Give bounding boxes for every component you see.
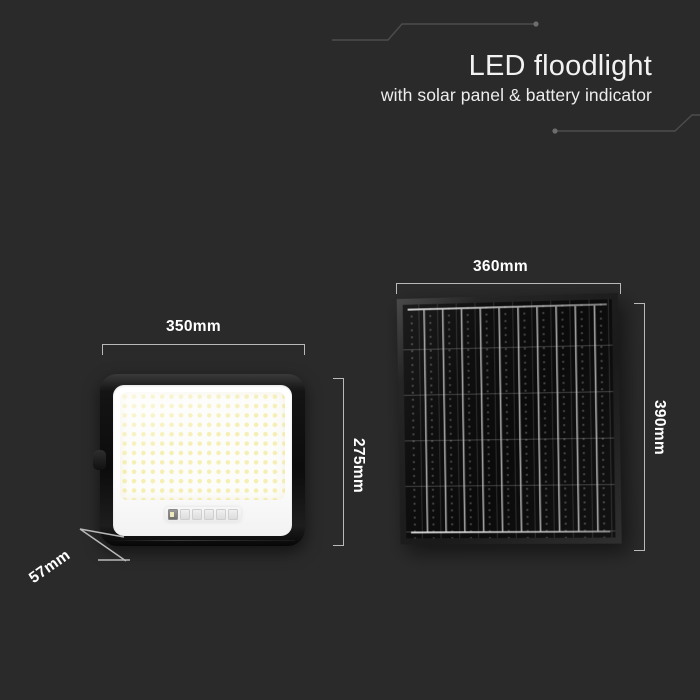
dimension-label-panel-height: 390mm	[650, 400, 668, 455]
floodlight-front-face	[113, 385, 292, 536]
battery-segment	[216, 509, 226, 520]
dimension-bracket-panel-height	[634, 303, 645, 551]
dimension-bracket-floodlight-height	[333, 378, 344, 546]
floodlight-mounting-knob	[93, 450, 106, 470]
solar-bottom-busbar	[411, 531, 610, 534]
dimension-bracket-floodlight-width	[102, 344, 305, 355]
solar-panel-glass	[403, 299, 616, 538]
decorative-line-bottom	[520, 110, 700, 144]
dimension-label-floodlight-height: 275mm	[349, 438, 367, 493]
led-floodlight	[100, 374, 305, 546]
battery-icon	[168, 509, 178, 520]
led-array	[120, 392, 285, 500]
solar-solder-points	[403, 299, 616, 538]
page-title: LED floodlight	[469, 50, 652, 83]
page-subtitle: with solar panel & battery indicator	[381, 85, 652, 106]
dimension-bracket-panel-width	[396, 283, 621, 294]
battery-indicator	[165, 507, 241, 522]
solar-panel	[397, 293, 622, 544]
decorative-line-top	[330, 18, 590, 48]
dimension-label-panel-width: 360mm	[473, 258, 528, 276]
battery-segment	[180, 509, 190, 520]
battery-segment	[204, 509, 214, 520]
product-spec-sheet: LED floodlight with solar panel & batter…	[0, 0, 700, 700]
solar-panel-frame	[397, 293, 622, 544]
battery-segment	[228, 509, 238, 520]
dimension-label-floodlight-width: 350mm	[166, 318, 221, 336]
battery-segment	[192, 509, 202, 520]
